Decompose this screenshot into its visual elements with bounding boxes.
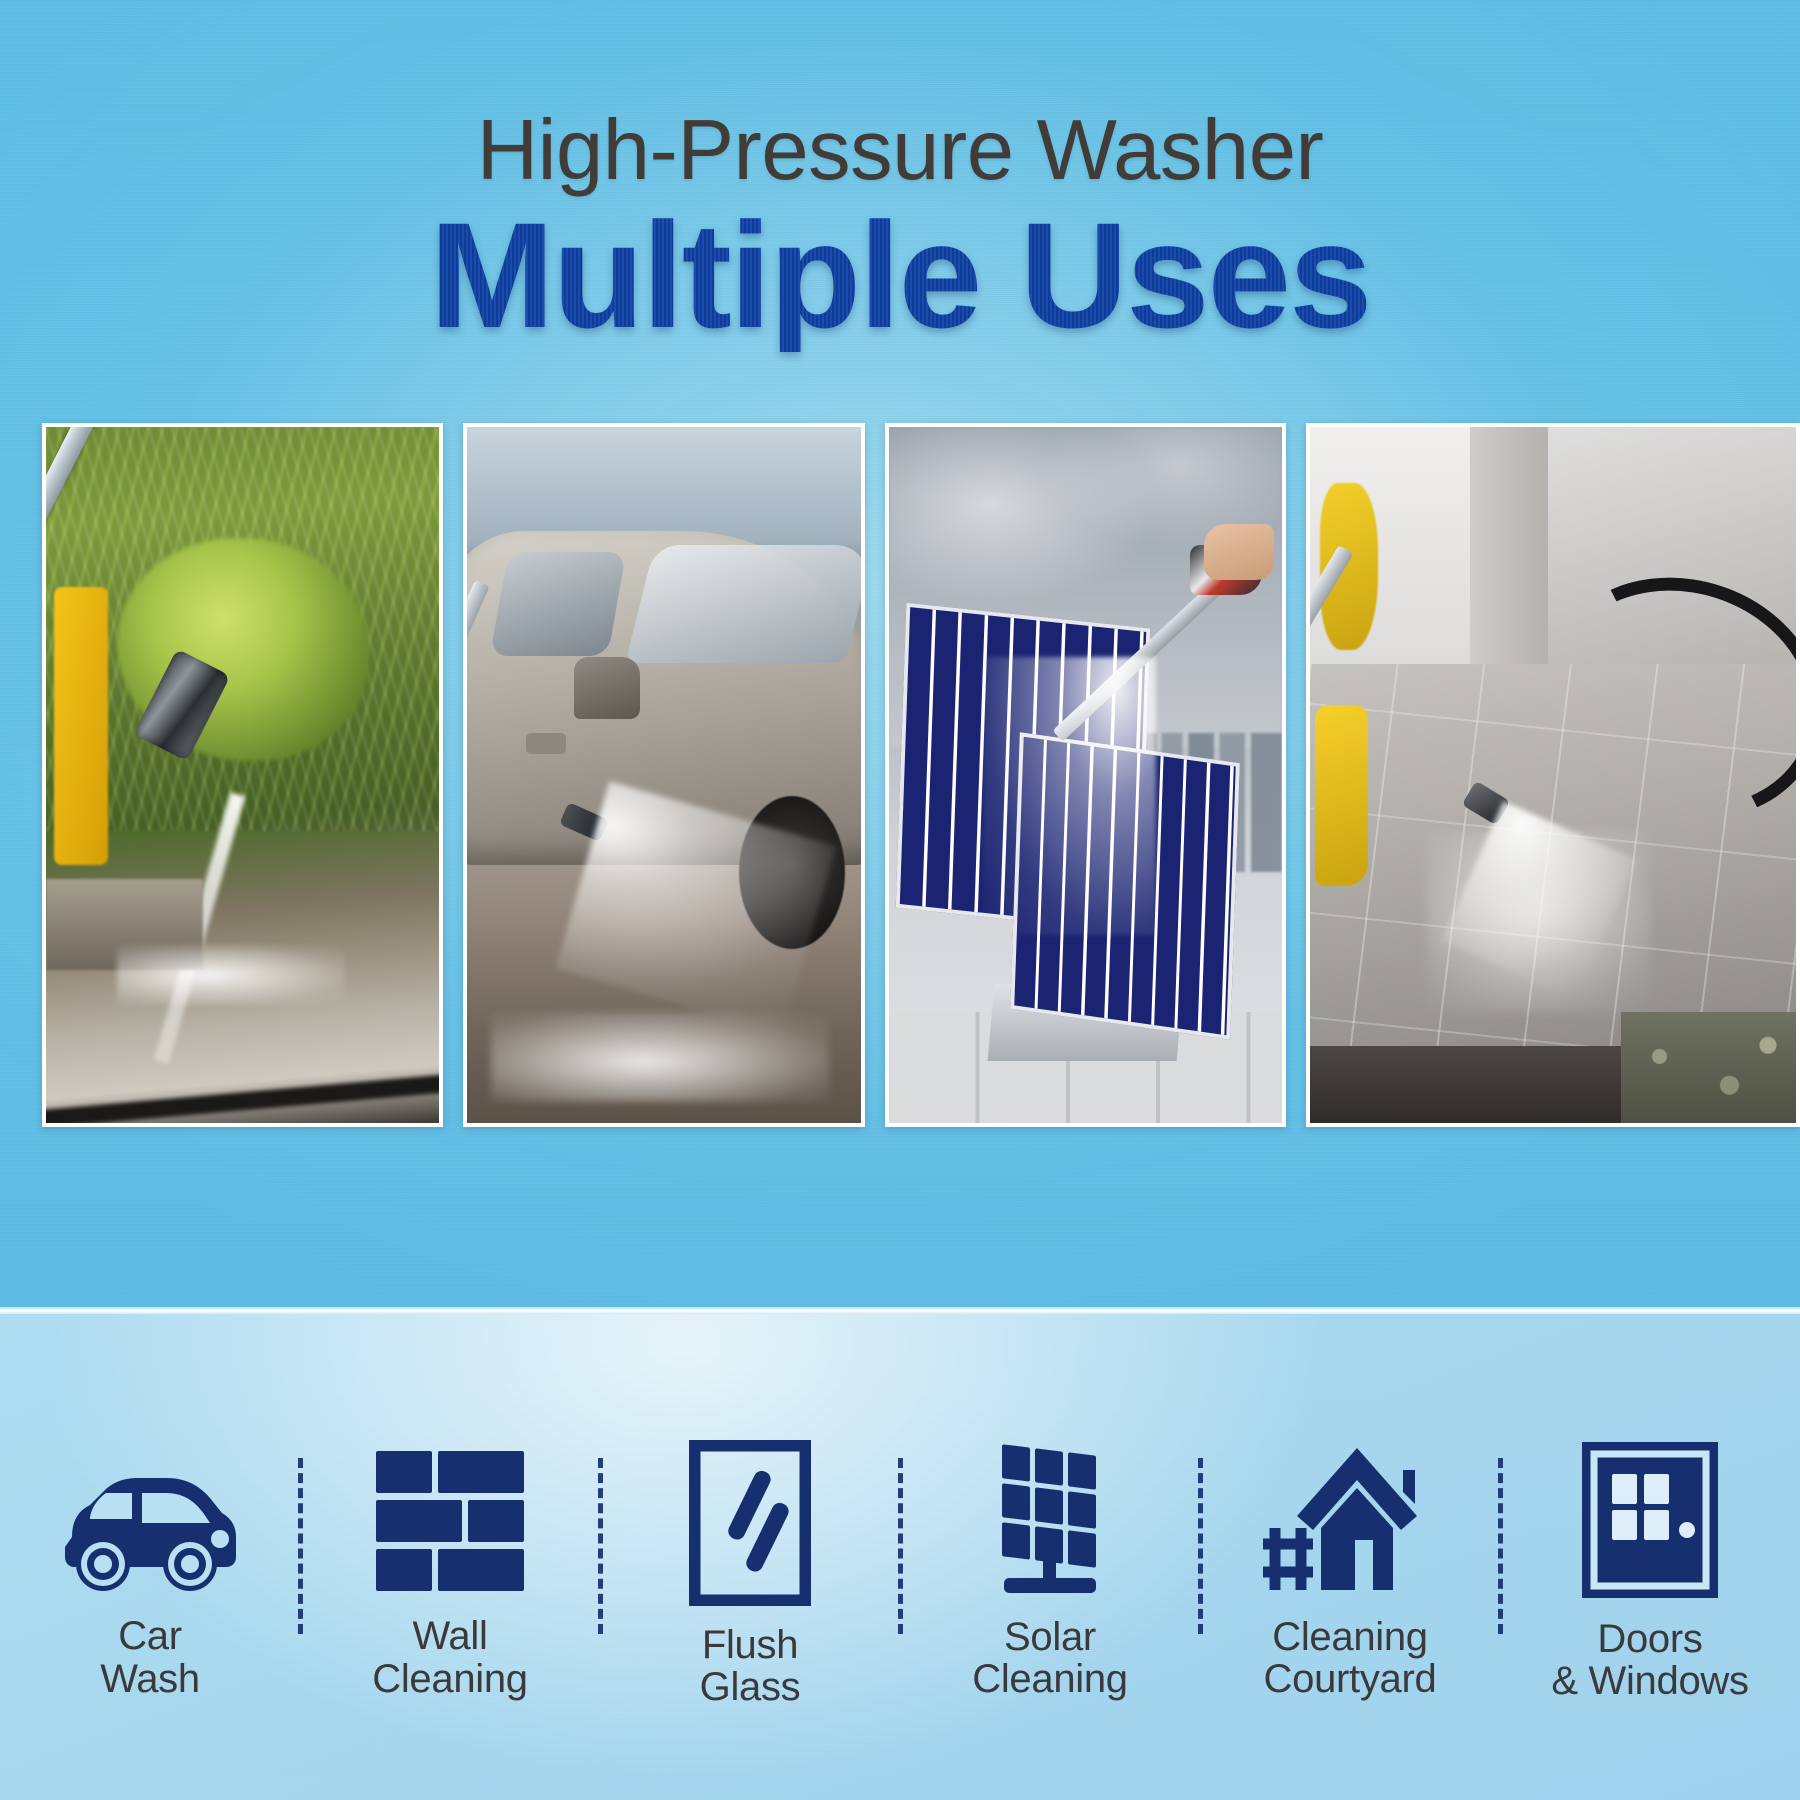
product-feature-poster: High-Pressure Washer Multiple Uses [0,0,1800,1800]
water-spray [983,657,1156,935]
windshield [626,545,861,663]
photo-card-courtyard [1306,423,1800,1127]
yellow-boot [1315,705,1368,886]
use-case-wall-cleaning[interactable]: Wall Cleaning [300,1440,600,1700]
photo-courtyard-paving [1310,427,1796,1123]
use-case-label: Doors & Windows [1551,1618,1748,1703]
headline-block: High-Pressure Washer Multiple Uses [0,108,1800,352]
section-divider [0,1307,1800,1314]
use-case-cleaning-courtyard[interactable]: Cleaning Courtyard [1200,1440,1500,1700]
operator-hand [1204,524,1274,580]
brick-wall-icon [355,1440,545,1597]
use-case-car-wash[interactable]: Car Wash [0,1440,300,1700]
door-handle [526,733,565,754]
photo-solar-panels [889,427,1282,1123]
photo-card-car-wash-garden [42,423,443,1127]
car-icon [55,1440,245,1597]
sky [467,427,860,545]
hose [46,1071,439,1123]
gravel-bed [1621,1012,1796,1123]
page-title: Multiple Uses [0,199,1800,352]
use-case-flush-glass[interactable]: Flush Glass [600,1440,900,1700]
photo-card-car-rinse [463,423,864,1127]
use-case-solar-cleaning[interactable]: Solar Cleaning [900,1440,1200,1700]
headline-subtitle: High-Pressure Washer [0,108,1800,193]
use-case-label: Wall Cleaning [372,1615,528,1700]
photo-card-solar-panels [885,423,1286,1127]
photo-garden-paving [46,427,439,1123]
foam-runoff [491,1012,829,1102]
solar-panel-icon [955,1440,1145,1598]
washer-body-yellow [54,587,108,865]
use-case-label: Car Wash [100,1615,200,1700]
rear-window [490,552,626,656]
use-case-doors-windows[interactable]: Doors & Windows [1500,1440,1800,1700]
side-mirror [574,657,641,720]
photo-strip [42,423,1800,1127]
house-fence-icon [1255,1440,1445,1598]
use-case-label: Solar Cleaning [972,1616,1128,1701]
use-cases-row: Car Wash Wall Cleaning [0,1440,1800,1700]
use-case-label: Cleaning Courtyard [1264,1616,1437,1701]
door-icon [1555,1440,1745,1600]
glass-pane-icon [655,1440,845,1606]
water-splash [117,945,345,1005]
use-case-label: Flush Glass [700,1624,801,1709]
photo-car-rinse [467,427,860,1123]
